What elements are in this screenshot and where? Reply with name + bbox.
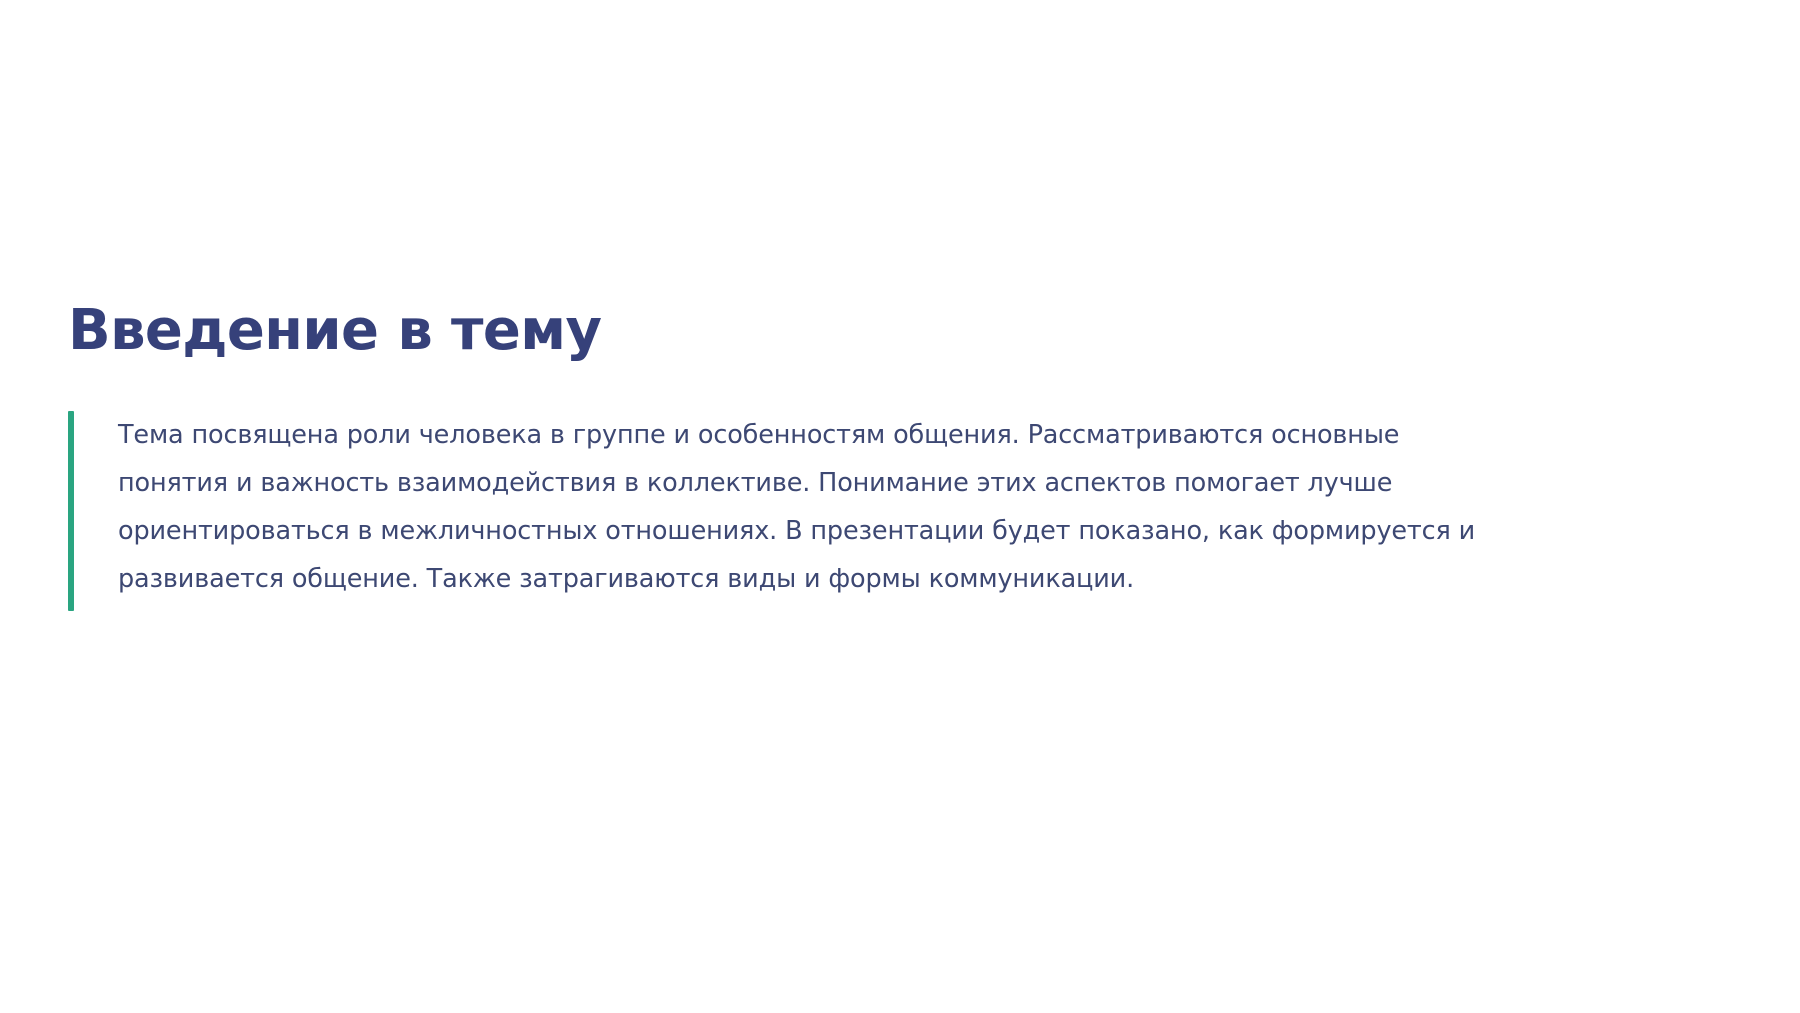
slide-content-block: Введение в тему Тема посвящена роли чело… (68, 300, 1708, 611)
page-title: Введение в тему (68, 300, 1708, 363)
paragraph-line: Тема посвящена роли человека в группе и … (118, 411, 1678, 459)
presentation-slide: Введение в тему Тема посвящена роли чело… (0, 0, 1800, 1013)
paragraph-line: понятия и важность взаимодействия в колл… (118, 459, 1678, 507)
paragraph-line: развивается общение. Также затрагиваются… (118, 555, 1678, 603)
slide-paragraph: Тема посвящена роли человека в группе и … (118, 411, 1678, 603)
accent-bar (68, 411, 74, 611)
body-text-block: Тема посвящена роли человека в группе и … (68, 411, 1708, 611)
paragraph-line: ориентироваться в межличностных отношени… (118, 507, 1678, 555)
